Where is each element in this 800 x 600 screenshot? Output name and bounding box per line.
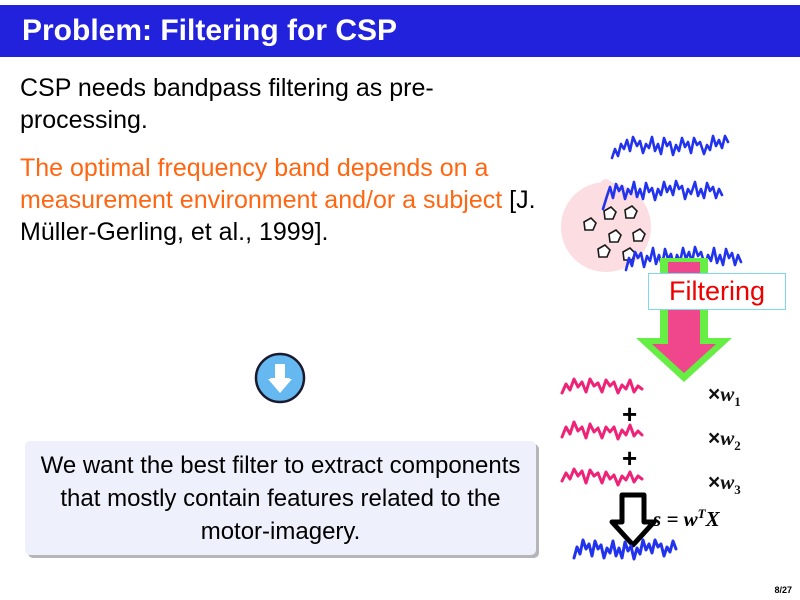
equation-rhs-base: w bbox=[684, 507, 698, 531]
conclusion-text: We want the best filter to extract compo… bbox=[25, 449, 536, 548]
page-number: 8/27 bbox=[774, 585, 792, 595]
plus-sign-2: + bbox=[622, 445, 637, 471]
equation-lhs: s bbox=[653, 507, 661, 531]
filtering-label-box: Filtering bbox=[648, 273, 786, 310]
equation-rhs-superscript: T bbox=[698, 506, 706, 521]
output-trace bbox=[574, 540, 676, 559]
weight-subscript-3: 3 bbox=[734, 482, 741, 497]
filtering-label-text: Filtering bbox=[669, 278, 765, 305]
page-title: Problem: Filtering for CSP bbox=[22, 14, 397, 48]
csp-filtering-diagram: Filtering ×w1 ×w2 ×w3 + + s = wTX bbox=[548, 110, 800, 580]
sum-arrow-icon bbox=[612, 495, 654, 545]
highlight-text: The optimal frequency band depends on a … bbox=[20, 154, 502, 214]
weight-symbol-3: w bbox=[720, 470, 734, 494]
weight-subscript-2: 2 bbox=[734, 438, 741, 453]
equation-rhs-tail: X bbox=[706, 507, 720, 531]
equation-equals: = bbox=[661, 507, 683, 531]
multiply-symbol-1: × bbox=[708, 383, 720, 406]
weight-label-3: ×w3 bbox=[708, 470, 741, 498]
weight-label-2: ×w2 bbox=[708, 426, 741, 454]
title-banner: Problem: Filtering for CSP bbox=[0, 5, 800, 57]
weight-label-1: ×w1 bbox=[708, 382, 741, 410]
paragraph-citation: The optimal frequency band depends on a … bbox=[20, 152, 550, 248]
weight-subscript-1: 1 bbox=[734, 394, 741, 409]
conclusion-box: We want the best filter to extract compo… bbox=[25, 441, 536, 555]
output-equation: s = wTX bbox=[653, 506, 720, 532]
weight-symbol-2: w bbox=[720, 426, 734, 450]
weight-symbol-1: w bbox=[720, 382, 734, 406]
plus-sign-1: + bbox=[622, 401, 637, 427]
down-arrow-circle-icon bbox=[253, 351, 307, 405]
paragraph-intro: CSP needs bandpass filtering as pre-proc… bbox=[20, 72, 550, 136]
body-text-block: CSP needs bandpass filtering as pre-proc… bbox=[20, 72, 550, 248]
multiply-symbol-3: × bbox=[708, 471, 720, 494]
multiply-symbol-2: × bbox=[708, 427, 720, 450]
